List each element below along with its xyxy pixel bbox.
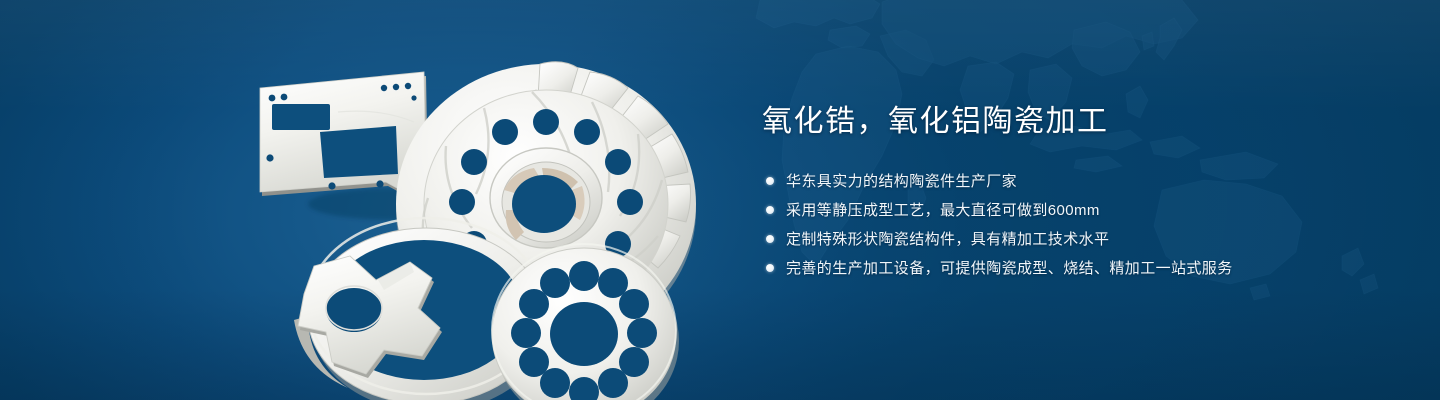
banner-copy: 氧化锆，氧化铝陶瓷加工 华东具实力的结构陶瓷件生产厂家 采用等静压成型工艺，最大…	[762, 104, 1362, 286]
list-item-label: 华东具实力的结构陶瓷件生产厂家	[786, 170, 1017, 191]
bullet-dot-icon	[766, 264, 774, 272]
bullet-dot-icon	[766, 235, 774, 243]
bullet-dot-icon	[766, 177, 774, 185]
feature-list: 华东具实力的结构陶瓷件生产厂家 采用等静压成型工艺，最大直径可做到600mm 定…	[766, 170, 1362, 278]
list-item: 采用等静压成型工艺，最大直径可做到600mm	[766, 199, 1362, 220]
hero-banner: 氧化锆，氧化铝陶瓷加工 华东具实力的结构陶瓷件生产厂家 采用等静压成型工艺，最大…	[0, 0, 1440, 400]
list-item-label: 采用等静压成型工艺，最大直径可做到600mm	[786, 199, 1100, 220]
bullet-dot-icon	[766, 206, 774, 214]
list-item-label: 完善的生产加工设备，可提供陶瓷成型、烧结、精加工一站式服务	[786, 257, 1233, 278]
ceramic-parts-photo	[228, 36, 690, 384]
list-item: 定制特殊形状陶瓷结构件，具有精加工技术水平	[766, 228, 1362, 249]
list-item-label: 定制特殊形状陶瓷结构件，具有精加工技术水平	[786, 228, 1109, 249]
page-title: 氧化锆，氧化铝陶瓷加工	[762, 104, 1362, 140]
list-item: 华东具实力的结构陶瓷件生产厂家	[766, 170, 1362, 191]
list-item: 完善的生产加工设备，可提供陶瓷成型、烧结、精加工一站式服务	[766, 257, 1362, 278]
